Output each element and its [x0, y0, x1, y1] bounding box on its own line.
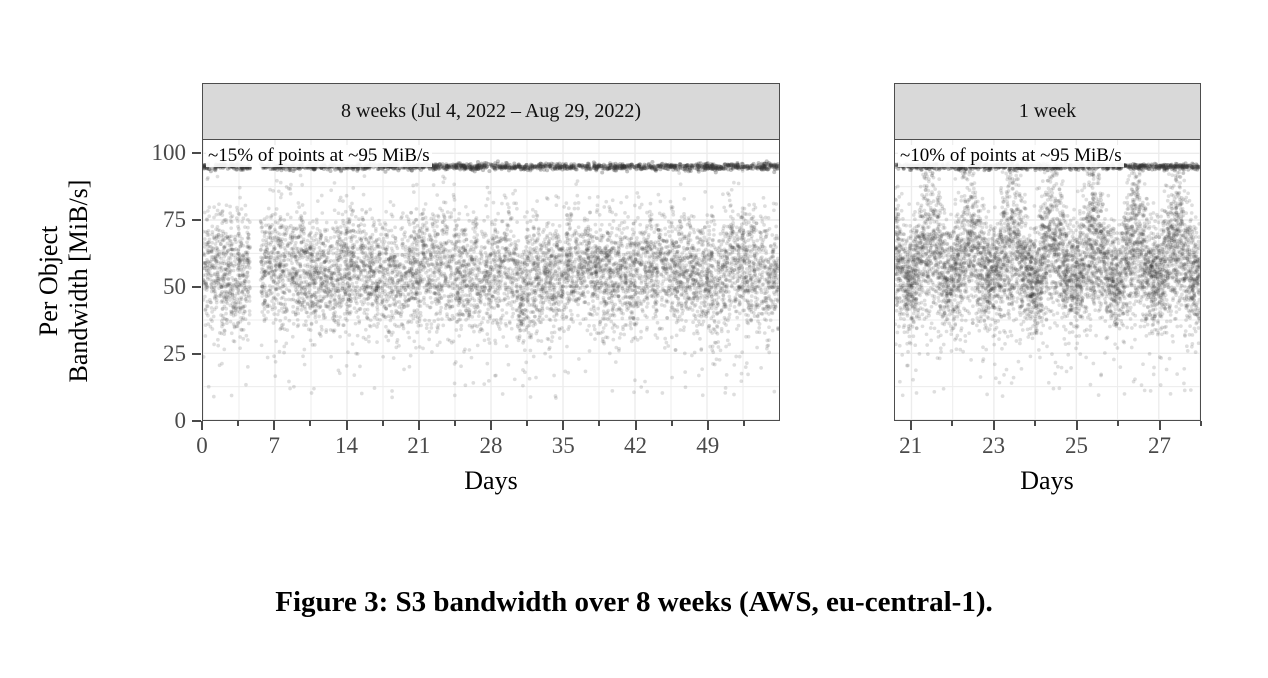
y-tick-label-100: 100	[132, 140, 186, 166]
figure-caption: Figure 3: S3 bandwidth over 8 weeks (AWS…	[0, 586, 1268, 619]
x-minor-tick-8w-38.5	[598, 421, 600, 426]
x-tick-label-8w-7: 7	[269, 433, 281, 459]
x-tick-mark-8w-0	[201, 421, 203, 430]
y-tick-label-75: 75	[132, 207, 186, 233]
panel-strip-label-1-week: 1 week	[1019, 100, 1076, 123]
panel-strip-1-week: 1 week	[894, 83, 1201, 140]
x-tick-mark-8w-14	[346, 421, 348, 430]
panel-strip-label-8-weeks: 8 weeks (Jul 4, 2022 – Aug 29, 2022)	[341, 100, 641, 123]
x-minor-tick-8w-45.5	[671, 421, 673, 426]
x-minor-tick-1w-28	[1200, 421, 1202, 426]
x-tick-mark-8w-35	[562, 421, 564, 430]
y-tick-label-25: 25	[132, 341, 186, 367]
scatter-panel-1-week	[894, 140, 1201, 421]
x-axis-title-8-weeks: Days	[464, 466, 517, 496]
panel-strip-8-weeks: 8 weeks (Jul 4, 2022 – Aug 29, 2022)	[202, 83, 780, 140]
x-tick-mark-8w-42	[635, 421, 637, 430]
x-minor-tick-8w-24.5	[454, 421, 456, 426]
annotation-plateau-1-week: ~10% of points at ~95 MiB/s	[898, 145, 1124, 167]
x-tick-label-8w-28: 28	[480, 433, 503, 459]
y-tick-mark-25	[192, 353, 201, 355]
figure-3: Per Object Bandwidth [MiB/s] 8 weeks (Ju…	[0, 0, 1268, 678]
scatter-points	[895, 160, 1200, 398]
x-tick-mark-1w-27	[1159, 421, 1161, 430]
x-tick-label-1w-23: 23	[982, 433, 1005, 459]
x-minor-tick-8w-31.5	[526, 421, 528, 426]
scatter-plot-8-weeks	[203, 140, 779, 420]
y-tick-label-0: 0	[132, 408, 186, 434]
y-tick-label-50: 50	[132, 274, 186, 300]
y-tick-mark-75	[192, 219, 201, 221]
x-minor-tick-1w-24	[1034, 421, 1036, 426]
x-tick-label-8w-49: 49	[696, 433, 719, 459]
y-axis-title: Per Object Bandwidth [MiB/s]	[34, 140, 94, 422]
x-tick-label-1w-27: 27	[1148, 433, 1171, 459]
y-axis-title-line2: Bandwidth [MiB/s]	[64, 180, 94, 383]
x-tick-mark-1w-25	[1076, 421, 1078, 430]
x-tick-label-1w-21: 21	[899, 433, 922, 459]
x-tick-mark-1w-23	[993, 421, 995, 430]
x-tick-mark-1w-21	[910, 421, 912, 430]
x-tick-label-8w-21: 21	[407, 433, 430, 459]
x-tick-mark-8w-21	[418, 421, 420, 430]
x-tick-label-8w-14: 14	[335, 433, 358, 459]
y-axis-title-line1: Per Object	[34, 226, 64, 336]
x-tick-mark-8w-28	[490, 421, 492, 430]
x-minor-tick-1w-26	[1117, 421, 1119, 426]
x-tick-label-8w-0: 0	[196, 433, 208, 459]
x-minor-tick-1w-22	[951, 421, 953, 426]
x-minor-tick-8w-52.5	[743, 421, 745, 426]
x-tick-label-1w-25: 25	[1065, 433, 1088, 459]
x-tick-mark-8w-7	[273, 421, 275, 430]
x-tick-label-8w-42: 42	[624, 433, 647, 459]
x-minor-tick-8w-17.5	[382, 421, 384, 426]
y-tick-mark-0	[192, 420, 201, 422]
x-axis-title-1-week: Days	[1020, 466, 1073, 496]
x-tick-mark-8w-49	[707, 421, 709, 430]
x-tick-label-8w-35: 35	[552, 433, 575, 459]
y-tick-mark-50	[192, 286, 201, 288]
scatter-panel-8-weeks	[202, 140, 780, 421]
scatter-plot-1-week	[895, 140, 1200, 420]
y-tick-mark-100	[192, 152, 201, 154]
annotation-plateau-8-weeks: ~15% of points at ~95 MiB/s	[206, 145, 432, 167]
x-minor-tick-8w-10.5	[309, 421, 311, 426]
x-minor-tick-8w-3.5	[237, 421, 239, 426]
